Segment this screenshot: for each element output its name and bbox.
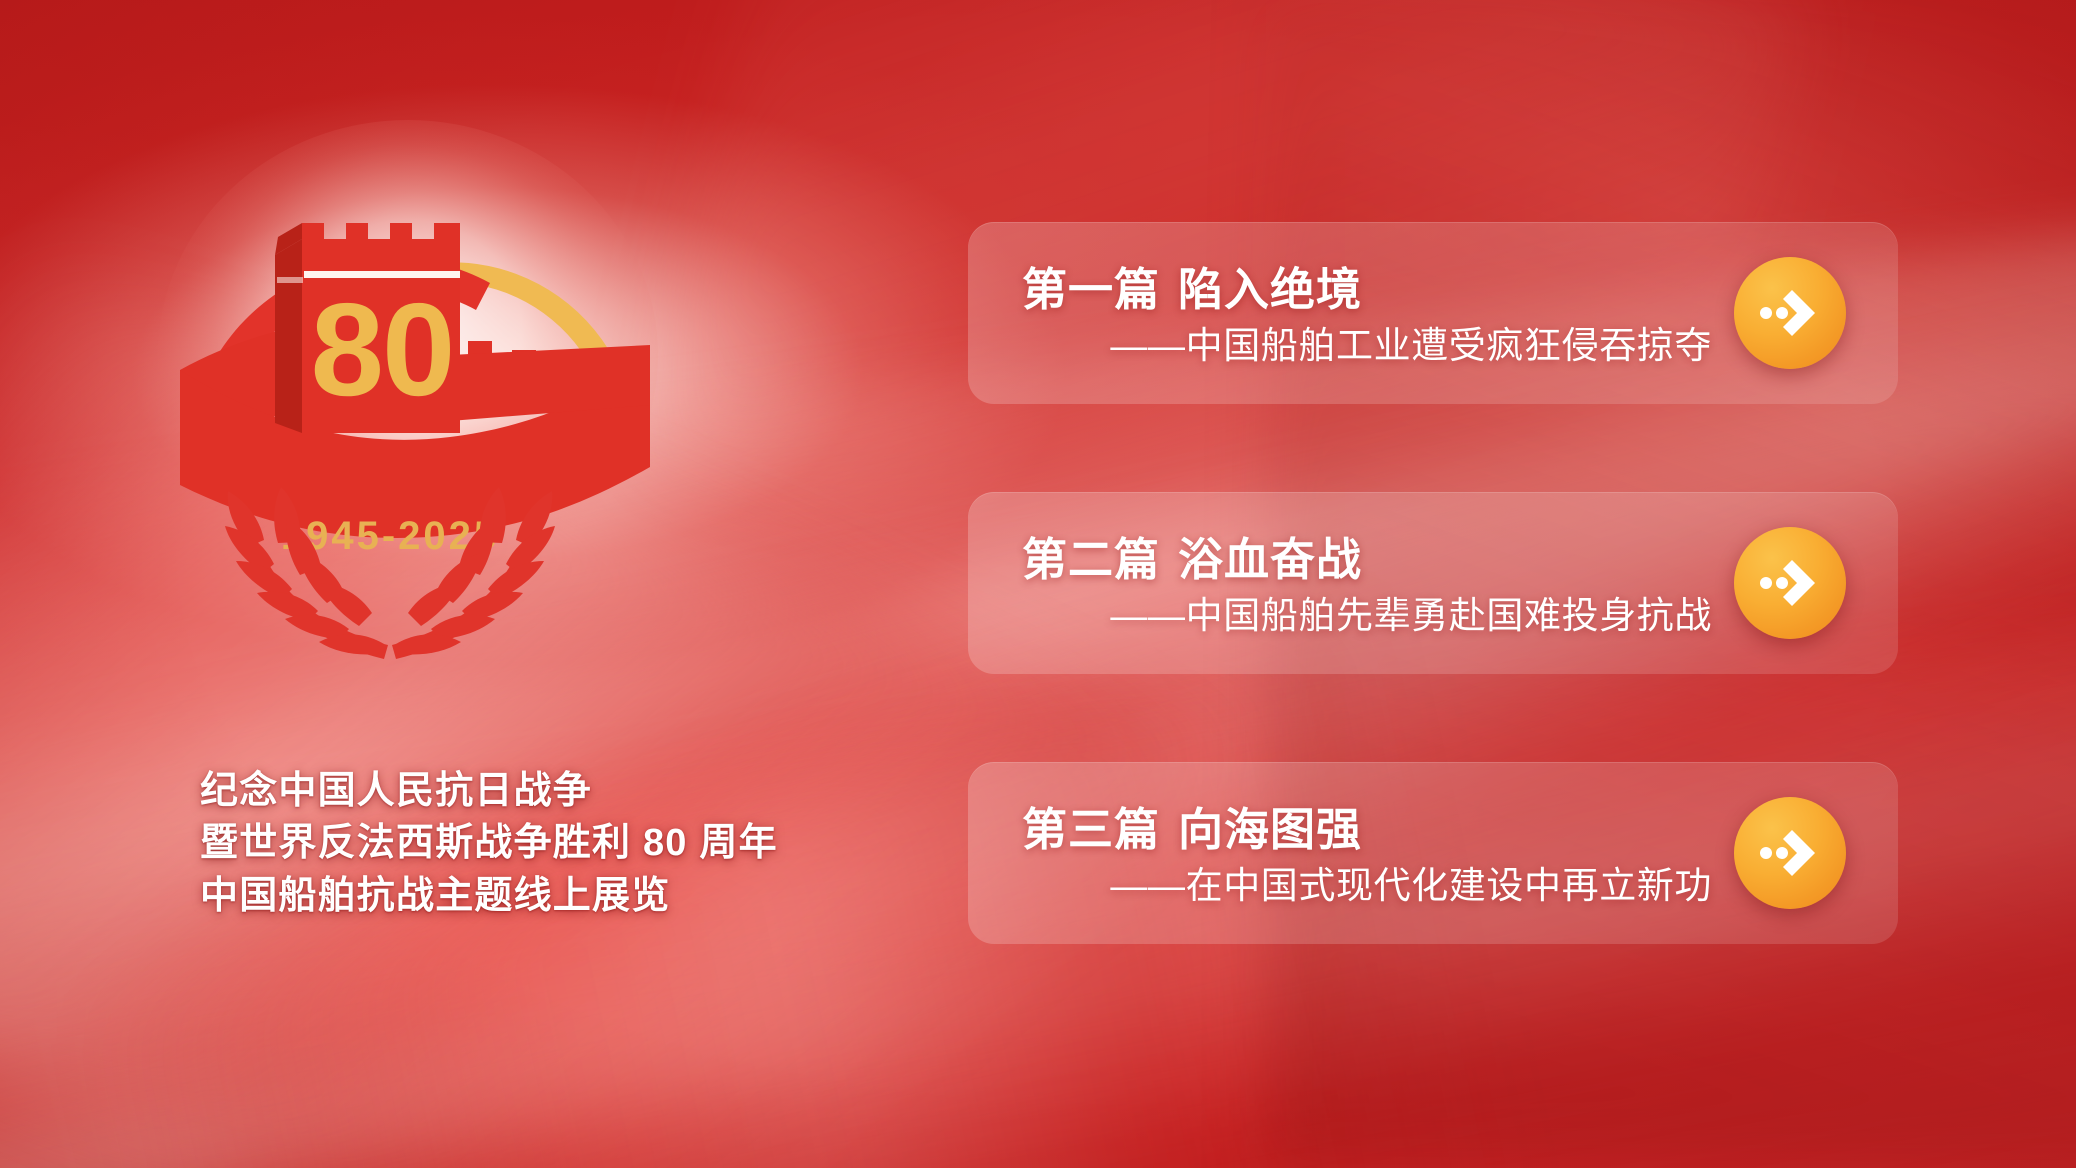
chapter-card-3-subtitle: ——在中国式现代化建设中再立新功 [1022, 866, 1712, 907]
chapter-card-3-title-name: 向海图强 [1178, 804, 1362, 855]
chapter-card-1-title-prefix: 第一篇 [1022, 264, 1160, 315]
chapter-card-3-title: 第三篇向海图强 [1022, 806, 1712, 854]
chapter-card-3[interactable]: 第三篇向海图强 ——在中国式现代化建设中再立新功 [968, 762, 1898, 944]
double-dot-chevron-right-icon [1755, 278, 1825, 348]
chapter-card-2-title-name: 浴血奋战 [1178, 534, 1362, 585]
chapter-card-1-title: 第一篇陷入绝境 [1022, 266, 1712, 314]
chapter-card-1-title-name: 陷入绝境 [1178, 264, 1362, 315]
double-dot-chevron-right-icon [1755, 548, 1825, 618]
page-title-line-1: 纪念中国人民抗日战争 [200, 765, 840, 817]
chapter-card-2-title-prefix: 第二篇 [1022, 534, 1160, 585]
chapter-card-2-text: 第二篇浴血奋战 ——中国船舶先辈勇赴国难投身抗战 [1022, 530, 1712, 636]
anniversary-emblem: 80 1945-2025 [150, 105, 670, 665]
chapter-card-3-text: 第三篇向海图强 ——在中国式现代化建设中再立新功 [1022, 800, 1712, 906]
chapter-card-3-title-prefix: 第三篇 [1022, 804, 1160, 855]
chapter-card-1-text: 第一篇陷入绝境 ——中国船舶工业遭受疯狂侵吞掠夺 [1022, 260, 1712, 366]
chapter-card-1-enter-button[interactable] [1734, 257, 1846, 369]
chapter-list: 第一篇陷入绝境 ——中国船舶工业遭受疯狂侵吞掠夺 第二篇浴血奋战 ——中国船舶先… [968, 222, 1898, 944]
chapter-card-2-title: 第二篇浴血奋战 [1022, 536, 1712, 584]
svg-text:80: 80 [311, 276, 454, 423]
chapter-card-2[interactable]: 第二篇浴血奋战 ——中国船舶先辈勇赴国难投身抗战 [968, 492, 1898, 674]
page-title: 纪念中国人民抗日战争 暨世界反法西斯战争胜利 80 周年 中国船舶抗战主题线上展… [200, 765, 840, 922]
chapter-card-2-enter-button[interactable] [1734, 527, 1846, 639]
exhibition-landing-page: 80 1945-2025 [0, 0, 2076, 1168]
chapter-card-2-subtitle: ——中国船舶先辈勇赴国难投身抗战 [1022, 596, 1712, 637]
page-title-line-2: 暨世界反法西斯战争胜利 80 周年 [200, 817, 840, 869]
page-title-line-3: 中国船舶抗战主题线上展览 [200, 870, 840, 922]
emblem-number-80: 80 [311, 276, 454, 423]
chapter-card-3-enter-button[interactable] [1734, 797, 1846, 909]
chapter-card-1-subtitle: ——中国船舶工业遭受疯狂侵吞掠夺 [1022, 326, 1712, 367]
chapter-card-1[interactable]: 第一篇陷入绝境 ——中国船舶工业遭受疯狂侵吞掠夺 [968, 222, 1898, 404]
double-dot-chevron-right-icon [1755, 818, 1825, 888]
